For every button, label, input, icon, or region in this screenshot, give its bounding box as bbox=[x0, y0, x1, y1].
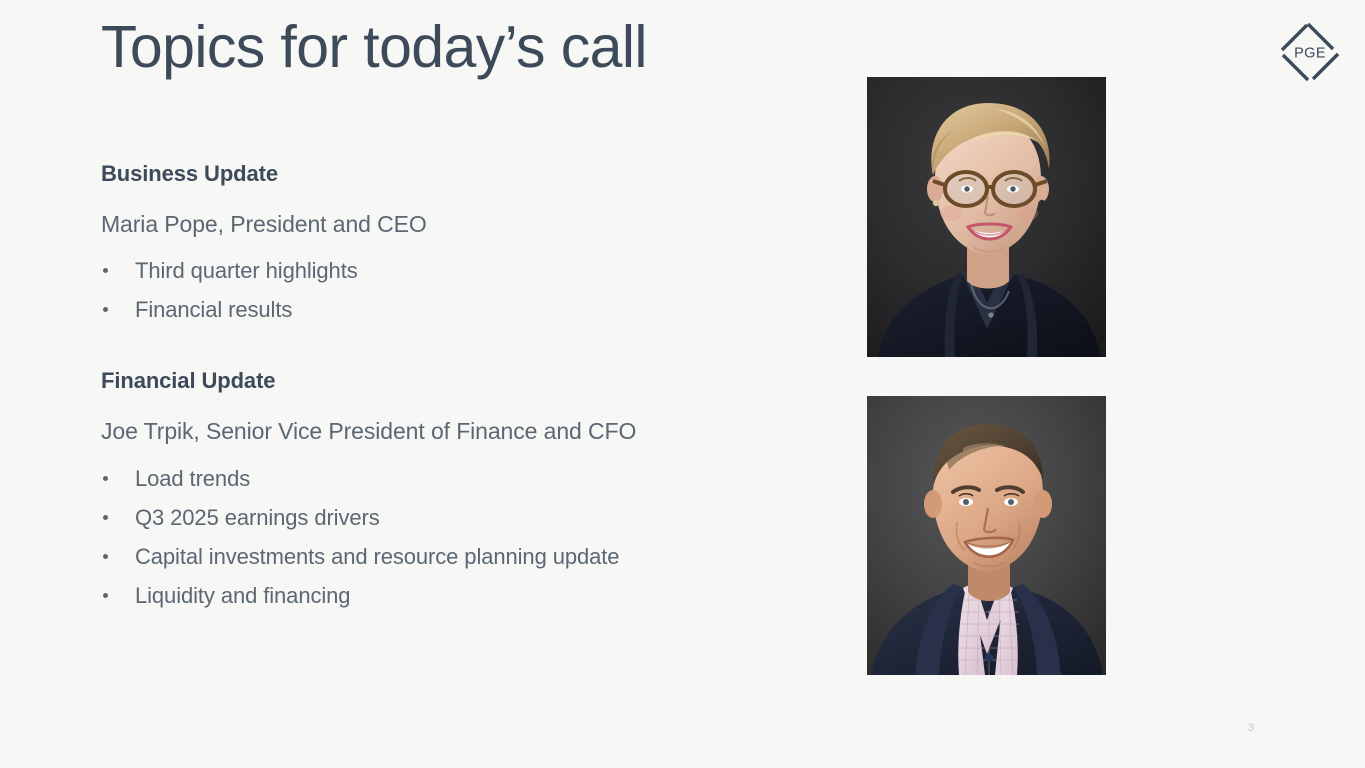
page-number: 3 bbox=[1248, 722, 1254, 734]
bullet-dot-icon bbox=[103, 307, 108, 312]
list-item-label: Capital investments and resource plannin… bbox=[135, 544, 619, 569]
list-item-label: Liquidity and financing bbox=[135, 583, 350, 608]
bullet-dot-icon bbox=[103, 268, 108, 273]
bullet-dot-icon bbox=[103, 515, 108, 520]
list-item: Q3 2025 earnings drivers bbox=[101, 498, 801, 537]
page-title: Topics for today’s call bbox=[101, 14, 647, 80]
list-item: Third quarter highlights bbox=[101, 251, 801, 290]
section-heading: Financial Update bbox=[101, 367, 801, 395]
list-item: Load trends bbox=[101, 459, 801, 498]
headshot-maria-pope bbox=[867, 77, 1106, 357]
bullet-list: Load trends Q3 2025 earnings drivers Cap… bbox=[101, 459, 801, 615]
bullet-dot-icon bbox=[103, 476, 108, 481]
list-item: Financial results bbox=[101, 290, 801, 329]
pge-logo: PGE bbox=[1276, 18, 1344, 86]
agenda-content: Business Update Maria Pope, President an… bbox=[101, 160, 801, 615]
list-item-label: Load trends bbox=[135, 466, 250, 491]
list-item: Capital investments and resource plannin… bbox=[101, 537, 801, 576]
list-item-label: Q3 2025 earnings drivers bbox=[135, 505, 380, 530]
bullet-dot-icon bbox=[103, 554, 108, 559]
presenter-name: Joe Trpik, Senior Vice President of Fina… bbox=[101, 417, 801, 447]
bullet-list: Third quarter highlights Financial resul… bbox=[101, 251, 801, 329]
list-item: Liquidity and financing bbox=[101, 576, 801, 615]
agenda-section-business-update: Business Update Maria Pope, President an… bbox=[101, 160, 801, 329]
section-heading: Business Update bbox=[101, 160, 801, 188]
presenter-name: Maria Pope, President and CEO bbox=[101, 210, 801, 240]
agenda-section-financial-update: Financial Update Joe Trpik, Senior Vice … bbox=[101, 367, 801, 614]
list-item-label: Third quarter highlights bbox=[135, 258, 358, 283]
list-item-label: Financial results bbox=[135, 297, 292, 322]
pge-logo-text: PGE bbox=[1294, 46, 1326, 62]
bullet-dot-icon bbox=[103, 593, 108, 598]
presentation-slide: Topics for today’s call Business Update … bbox=[0, 0, 1365, 768]
headshot-joe-trpik bbox=[867, 396, 1106, 675]
